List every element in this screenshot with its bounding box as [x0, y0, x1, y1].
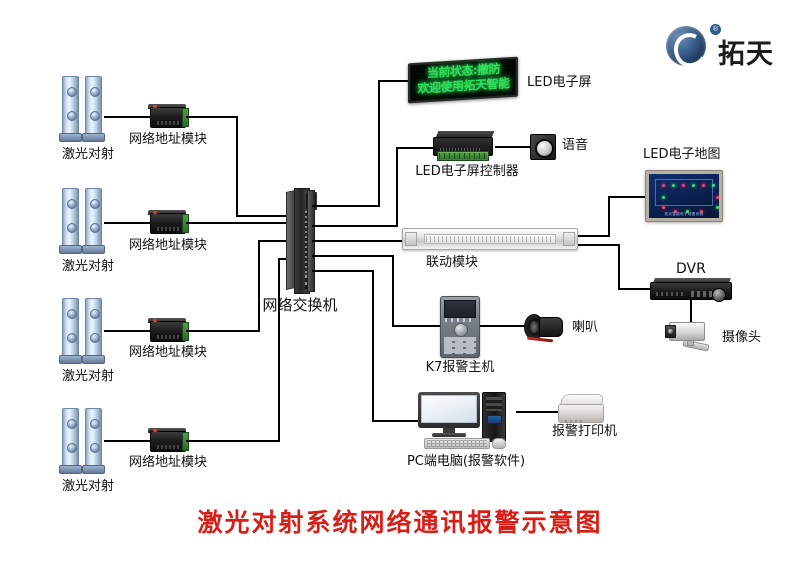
laser-detector-4[interactable]: [58, 408, 116, 476]
link-linkage-dvr-h1: [578, 244, 620, 246]
power-led-icon: [153, 429, 157, 432]
power-led-icon: [153, 211, 157, 214]
map-alarm-dot: [716, 206, 719, 209]
link-linkage-ledmap-h2: [608, 196, 648, 198]
laser-post-icon: [85, 408, 102, 470]
horn-speaker[interactable]: [524, 312, 568, 342]
link-switch-ledscreen-v: [378, 80, 380, 207]
network-switch[interactable]: [286, 188, 314, 292]
alarm-printer[interactable]: [558, 394, 606, 424]
horn-label: 喇叭: [572, 321, 598, 335]
keyboard-icon[interactable]: [424, 438, 490, 449]
link-switch-ledctrl-h1: [312, 225, 398, 227]
link-linkage-dvr-h2: [618, 288, 652, 290]
link-switch-k7-v: [392, 255, 394, 327]
map-alarm-dot: [662, 206, 665, 209]
laser-post-icon: [85, 188, 102, 250]
led-map-label: LED电子地图: [643, 148, 720, 162]
pc-tower-icon: [482, 392, 506, 442]
network-address-module-3[interactable]: [148, 318, 188, 343]
voice-module[interactable]: [530, 134, 556, 160]
brand-name: 拓天: [718, 32, 774, 71]
camera-unit[interactable]: [665, 320, 717, 350]
link-switch-k7-h1: [312, 255, 394, 257]
k7-dial-icon[interactable]: [454, 323, 468, 337]
laser-detector-1[interactable]: [58, 76, 116, 144]
link-laser3-module3: [104, 330, 150, 332]
k7-alarm-host[interactable]: [440, 296, 480, 358]
laser-post-icon: [85, 298, 102, 360]
laser-post-icon: [62, 408, 79, 470]
tuotian-logo-icon: [666, 26, 706, 66]
led-screen-controller[interactable]: [433, 131, 495, 160]
link-switch-linkage: [312, 240, 404, 242]
map-alarm-dot: [672, 184, 675, 187]
link-linkage-dvr-v: [618, 244, 620, 290]
map-floorplan: [655, 179, 713, 206]
laser-base: [59, 133, 82, 142]
network-address-module-label-1: 网络地址模块: [129, 133, 207, 147]
printer-label: 报警打印机: [552, 425, 617, 439]
link-module4-switch-v: [278, 258, 280, 442]
camera-lens-icon: [665, 325, 676, 338]
laser-base: [82, 245, 105, 254]
link-ledctrl-voice: [495, 146, 531, 148]
map-alarm-dot: [662, 196, 665, 199]
laser-post-icon: [85, 76, 102, 138]
link-laser2-module2: [104, 222, 150, 224]
brand-logo: ® 拓天: [666, 24, 790, 70]
link-switch-pc-h2: [372, 420, 420, 422]
laser-post-icon: [62, 298, 79, 360]
laser-base: [59, 355, 82, 364]
link-dvr-camera: [690, 300, 692, 322]
camera-label: 摄像头: [722, 331, 761, 345]
link-k7-horn: [480, 325, 526, 327]
laser-detector-3[interactable]: [58, 298, 116, 366]
led-display-label: LED电子屏: [527, 76, 591, 90]
map-alarm-dot: [692, 184, 695, 187]
network-address-module-label-3: 网络地址模块: [129, 346, 207, 360]
network-address-module-1[interactable]: [148, 104, 188, 129]
jog-dial-icon: [712, 288, 726, 302]
link-module1-switch-h2: [236, 215, 290, 217]
link-pc-printer: [516, 411, 560, 413]
k7-status-leds: [445, 318, 475, 322]
link-switch-pc-h1: [312, 270, 374, 272]
led-electronic-map[interactable]: 拓天智能电子地图系统: [645, 170, 723, 222]
laser-post-icon: [62, 76, 79, 138]
map-alarm-dot: [682, 184, 685, 187]
link-switch-ledscreen-h2: [378, 80, 412, 82]
link-module1-switch-h1: [186, 116, 238, 118]
diagram-canvas: ® 拓天 激光对射 网络地址模块 激光对射 网络地址模块 激光对射: [0, 0, 800, 579]
link-switch-ledscreen-h1: [312, 205, 380, 207]
laser-detector-label-4: 激光对射: [62, 480, 114, 494]
k7-keypad[interactable]: [444, 337, 476, 354]
link-switch-ledctrl-h2: [396, 147, 434, 149]
power-led-icon: [153, 319, 157, 322]
laser-post-icon: [62, 188, 79, 250]
laser-detector-label-2: 激光对射: [62, 260, 114, 274]
laser-base: [82, 133, 105, 142]
laser-base: [59, 245, 82, 254]
horn-wire: [527, 337, 553, 343]
voice-label: 语音: [562, 139, 588, 153]
laser-detector-label-1: 激光对射: [62, 148, 114, 162]
link-laser4-module4: [104, 440, 150, 442]
link-switch-pc-v: [372, 270, 374, 422]
link-linkage-ledmap-v: [608, 196, 610, 237]
link-switch-ledctrl-v: [396, 147, 398, 227]
link-module2-switch: [186, 222, 290, 224]
speaker-driver-icon: [535, 139, 554, 158]
link-switch-k7-h2: [392, 325, 442, 327]
monitor-icon: [418, 392, 480, 428]
laser-base: [82, 465, 105, 474]
linkage-module-label: 联动模块: [426, 256, 478, 270]
terminal-block: [437, 151, 489, 161]
network-address-module-4[interactable]: [148, 428, 188, 453]
mouse-icon[interactable]: [492, 438, 506, 449]
network-switch-label: 网络交换机: [262, 297, 337, 314]
power-led-icon: [153, 105, 157, 108]
laser-base: [59, 465, 82, 474]
network-address-module-2[interactable]: [148, 210, 188, 235]
map-alarm-dot: [662, 184, 665, 187]
led-controller-label: LED电子屏控制器: [415, 165, 518, 179]
dvr-unit[interactable]: [650, 278, 732, 300]
page-title: 激光对射系统网络通讯报警示意图: [197, 503, 602, 539]
dvr-label: DVR: [676, 262, 706, 277]
laser-detector-label-3: 激光对射: [62, 370, 114, 384]
link-module3-switch-h1: [186, 330, 260, 332]
link-module4-switch-h1: [186, 440, 280, 442]
map-caption: 拓天智能电子地图系统: [649, 212, 719, 217]
k7-screen: [444, 300, 476, 318]
network-address-module-label-2: 网络地址模块: [129, 239, 207, 253]
laser-base: [82, 355, 105, 364]
network-address-module-label-4: 网络地址模块: [129, 456, 207, 470]
map-alarm-dot: [712, 184, 715, 187]
pc-label: PC端电脑(报警软件): [407, 455, 525, 469]
link-linkage-ledmap-h1: [578, 235, 610, 237]
led-display-panel[interactable]: 当前状态:撤防 欢迎使用拓天智能: [408, 57, 518, 104]
linkage-module[interactable]: [402, 228, 578, 250]
link-laser1-module1: [104, 116, 150, 118]
pc-workstation[interactable]: [418, 392, 516, 448]
map-alarm-dot: [702, 184, 705, 187]
link-module1-switch-v: [236, 116, 238, 216]
map-alarm-dot: [716, 196, 719, 199]
link-module3-switch-v: [258, 240, 260, 332]
k7-alarm-host-label: K7报警主机: [426, 361, 495, 375]
